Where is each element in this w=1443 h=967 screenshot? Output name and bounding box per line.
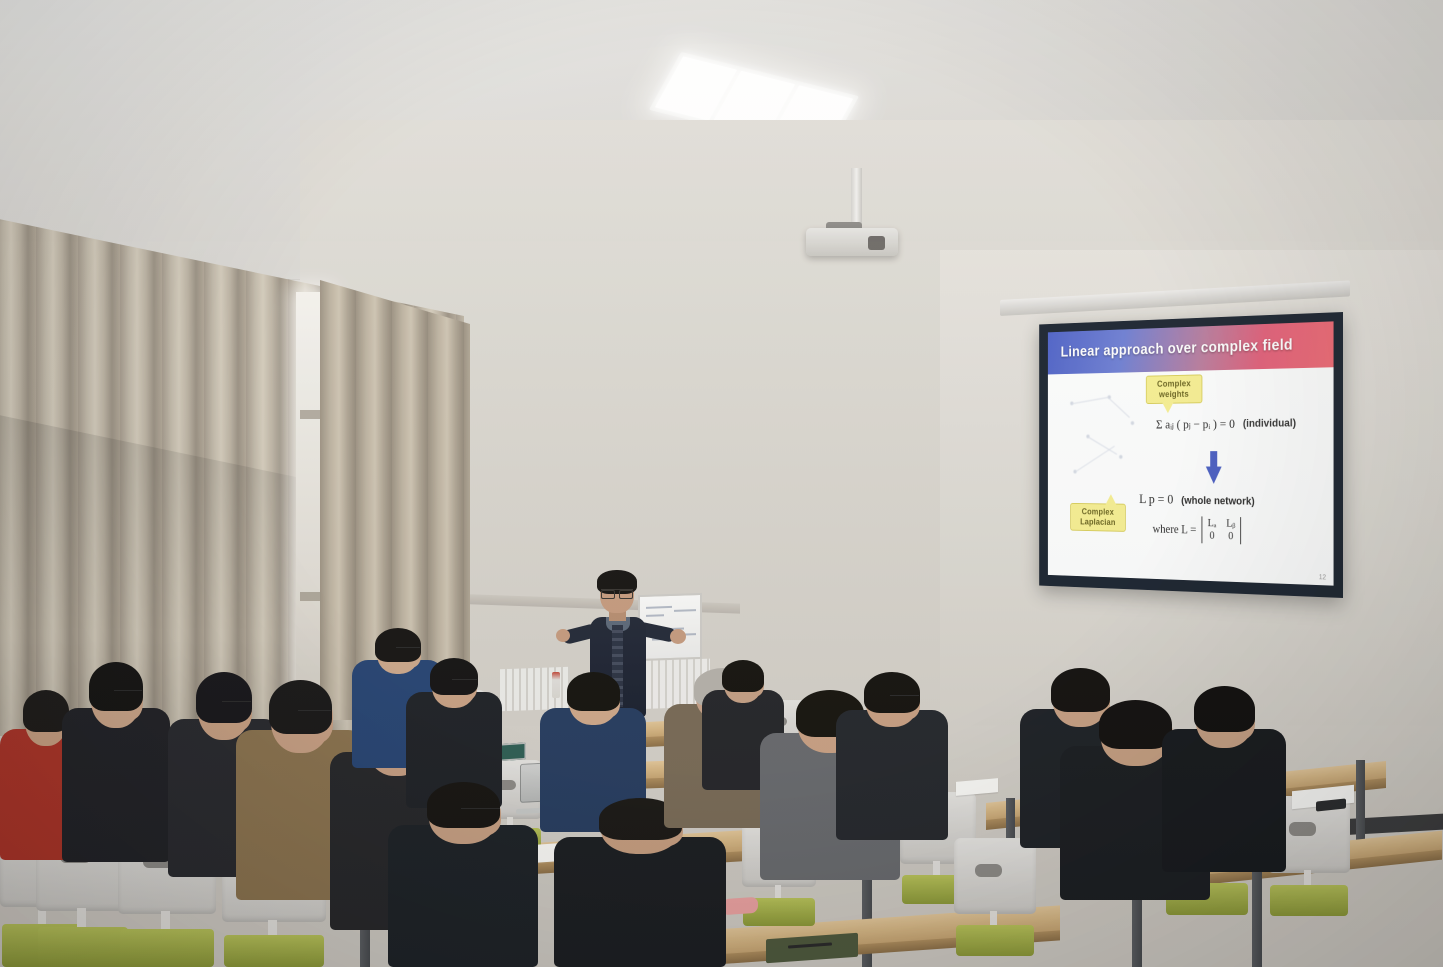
glasses-icon <box>396 647 420 651</box>
slide-background-graph <box>1062 393 1152 495</box>
matrix-cell-r1c0: 0 <box>1210 530 1215 543</box>
audience-member-hair <box>427 782 500 828</box>
glasses-icon <box>298 710 331 714</box>
glasses-icon <box>452 679 477 683</box>
audience-member-hair <box>864 672 920 713</box>
callout-line-2: Laplacian <box>1080 517 1115 527</box>
matrix-cell-r1c1: 0 <box>1228 530 1233 543</box>
projection-screen: Linear approach over complex field C <box>1039 312 1343 598</box>
audience-member <box>836 672 948 840</box>
audience-member-hair <box>430 658 478 695</box>
callout-line-1: Complex <box>1157 378 1191 388</box>
pencil-case[interactable] <box>722 897 758 916</box>
callout-line-1: Complex <box>1082 507 1114 517</box>
equation-individual-formula: Σ aᵢⱼ ( pⱼ − pᵢ ) = 0 <box>1156 416 1235 432</box>
matrix-cell-r0c1: Lᵦ <box>1226 518 1235 531</box>
presenter-left-hand <box>556 629 570 642</box>
audience-member-hair <box>269 680 332 734</box>
audience-member-hair <box>567 672 620 711</box>
equation-network-formula: L p = 0 <box>1139 493 1173 509</box>
matrix-cell-r0c0: Lₐ <box>1208 517 1217 530</box>
equation-whole-network: L p = 0 (whole network) <box>1139 493 1255 510</box>
audience-member-body <box>836 710 948 840</box>
equation-where: where L = Lₐ 0 Lᵦ 0 <box>1153 516 1242 545</box>
equation-network-label: (whole network) <box>1181 495 1255 508</box>
notebook[interactable] <box>766 933 858 963</box>
slide-title: Linear approach over complex field <box>1048 337 1293 362</box>
glasses-icon <box>461 808 500 812</box>
audience-member-hair <box>722 660 764 692</box>
projector-pole <box>851 168 862 230</box>
callout-complex-laplacian: Complex Laplacian <box>1070 503 1126 532</box>
equation-where-prefix: where L = <box>1153 522 1197 537</box>
audience-member-body <box>1162 729 1286 872</box>
callout-line-2: weights <box>1159 389 1189 399</box>
slide-surface: Linear approach over complex field C <box>1048 321 1334 585</box>
slide-title-bar: Linear approach over complex field <box>1048 321 1334 374</box>
audience-member <box>62 662 170 862</box>
equation-individual: Σ aᵢⱼ ( pⱼ − pᵢ ) = 0 (individual) <box>1156 416 1296 433</box>
audience-member <box>388 782 538 967</box>
chair[interactable] <box>954 838 1036 956</box>
audience-member <box>1162 686 1286 872</box>
projector-lens <box>868 236 885 250</box>
classroom-photo-scene: Linear approach over complex field C <box>0 0 1443 967</box>
audience-member-hair <box>375 628 421 662</box>
audience-member-body <box>62 708 170 862</box>
audience-member-hair <box>1194 686 1255 732</box>
slide-page-number: 12 <box>1319 574 1326 581</box>
glasses-icon <box>601 589 633 596</box>
equation-individual-label: (individual) <box>1243 418 1296 430</box>
audience-member-hair <box>89 662 143 711</box>
down-arrow-icon <box>1206 451 1222 484</box>
laplacian-matrix: Lₐ 0 Lᵦ 0 <box>1202 516 1242 544</box>
slide-body: Complex weights Σ aᵢⱼ ( pⱼ − pᵢ ) = 0 (i… <box>1048 367 1334 585</box>
audience-member-body <box>388 825 538 967</box>
presenter-right-hand <box>670 629 686 644</box>
callout-complex-weights: Complex weights <box>1146 374 1202 404</box>
audience-member-body <box>554 837 726 967</box>
glasses-icon <box>114 690 142 694</box>
glasses-icon <box>890 695 919 699</box>
